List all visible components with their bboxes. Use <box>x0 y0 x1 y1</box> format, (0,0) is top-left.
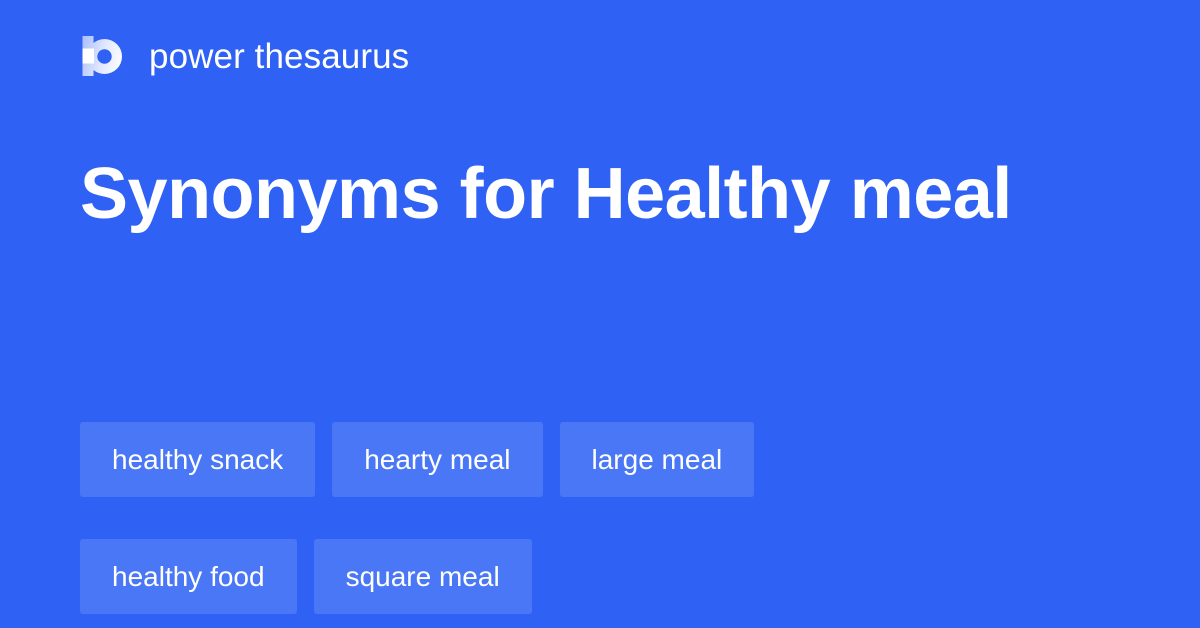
synonym-chip[interactable]: healthy snack <box>80 422 315 497</box>
synonym-chip-list: healthy snack hearty meal large meal hea… <box>80 422 1120 614</box>
brand-name: power thesaurus <box>149 39 409 74</box>
synonym-chip[interactable]: hearty meal <box>332 422 542 497</box>
power-thesaurus-b-logo-icon <box>80 32 128 80</box>
synonym-chip[interactable]: square meal <box>314 539 532 614</box>
share-card: power thesaurus Synonyms for Healthy mea… <box>0 0 1200 628</box>
brand-lockup[interactable]: power thesaurus <box>80 28 409 84</box>
synonym-chip[interactable]: large meal <box>560 422 755 497</box>
page-title: Synonyms for Healthy meal <box>80 139 1080 249</box>
synonym-chip[interactable]: healthy food <box>80 539 297 614</box>
